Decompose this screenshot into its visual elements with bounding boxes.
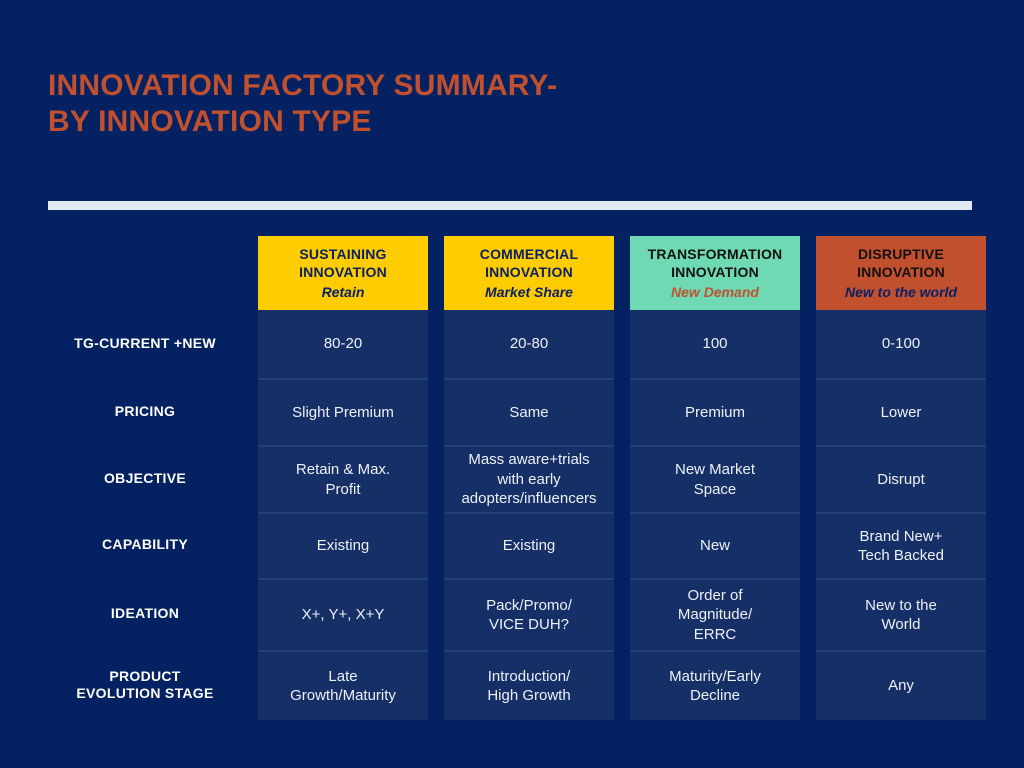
title-divider-rule bbox=[48, 201, 972, 210]
table-cell-text: Late Growth/Maturity bbox=[290, 667, 396, 706]
page-title-line-2: BY INNOVATION TYPE bbox=[48, 104, 748, 140]
table-cell-text: Slight Premium bbox=[292, 403, 394, 423]
column-header-1: SUSTAINING INNOVATIONRetain bbox=[258, 236, 428, 310]
table-cell-text: Any bbox=[888, 676, 914, 696]
table-cell-text: Existing bbox=[503, 536, 556, 556]
table-cell-text: Introduction/ High Growth bbox=[487, 667, 570, 706]
table-cell: Same bbox=[444, 378, 614, 445]
table-cell: Existing bbox=[444, 512, 614, 578]
table-cell: New to the World bbox=[816, 578, 986, 650]
column-header-2: COMMERCIAL INNOVATIONMarket Share bbox=[444, 236, 614, 310]
table-cell-text: Mass aware+trials with early adopters/in… bbox=[461, 450, 596, 509]
table-cell-text: Maturity/Early Decline bbox=[669, 667, 761, 706]
table-cell-text: New bbox=[700, 536, 730, 556]
table-cell-text: Existing bbox=[317, 536, 370, 556]
column-header-name: SUSTAINING INNOVATION bbox=[299, 245, 387, 282]
column-header-subtitle: New to the world bbox=[845, 283, 957, 301]
table-cell: Brand New+ Tech Backed bbox=[816, 512, 986, 578]
table-cell: Introduction/ High Growth bbox=[444, 650, 614, 720]
table-cell: New Market Space bbox=[630, 445, 800, 512]
table-cell: Slight Premium bbox=[258, 378, 428, 445]
table-cell: X+, Y+, X+Y bbox=[258, 578, 428, 650]
table-cell-text: Pack/Promo/ VICE DUH? bbox=[486, 596, 572, 635]
innovation-type-matrix: SUSTAINING INNOVATIONRetainCOMMERCIAL IN… bbox=[48, 236, 976, 720]
table-cell-text: X+, Y+, X+Y bbox=[302, 605, 385, 625]
table-cell: Order of Magnitude/ ERRC bbox=[630, 578, 800, 650]
row-label-5: IDEATION bbox=[48, 578, 242, 650]
column-header-subtitle: Market Share bbox=[485, 283, 573, 301]
table-cell-text: 100 bbox=[702, 334, 727, 354]
table-cell: Pack/Promo/ VICE DUH? bbox=[444, 578, 614, 650]
row-label-6: PRODUCT EVOLUTION STAGE bbox=[48, 650, 242, 720]
table-cell: New bbox=[630, 512, 800, 578]
row-label-4: CAPABILITY bbox=[48, 512, 242, 578]
table-cell: Disrupt bbox=[816, 445, 986, 512]
table-cell-text: Same bbox=[509, 403, 548, 423]
table-cell: Any bbox=[816, 650, 986, 720]
row-label-3: OBJECTIVE bbox=[48, 445, 242, 512]
table-cell-text: Premium bbox=[685, 403, 745, 423]
table-cell-text: Retain & Max. Profit bbox=[296, 460, 390, 499]
table-cell: 20-80 bbox=[444, 310, 614, 378]
table-cell: Lower bbox=[816, 378, 986, 445]
table-cell: Existing bbox=[258, 512, 428, 578]
column-header-name: TRANSFORMATION INNOVATION bbox=[648, 245, 783, 282]
table-cell: 80-20 bbox=[258, 310, 428, 378]
row-label-2: PRICING bbox=[48, 378, 242, 445]
table-cell: Premium bbox=[630, 378, 800, 445]
table-cell-text: New Market Space bbox=[675, 460, 755, 499]
row-label-1: TG-CURRENT +NEW bbox=[48, 310, 242, 378]
page-title-line-1: INNOVATION FACTORY SUMMARY- bbox=[48, 68, 748, 104]
column-header-4: DISRUPTIVE INNOVATIONNew to the world bbox=[816, 236, 986, 310]
table-cell-text: Order of Magnitude/ ERRC bbox=[678, 586, 752, 645]
matrix-corner-spacer bbox=[48, 236, 242, 310]
column-header-3: TRANSFORMATION INNOVATIONNew Demand bbox=[630, 236, 800, 310]
table-cell: 0-100 bbox=[816, 310, 986, 378]
table-cell: Late Growth/Maturity bbox=[258, 650, 428, 720]
table-cell: 100 bbox=[630, 310, 800, 378]
table-cell-text: 0-100 bbox=[882, 334, 920, 354]
column-header-name: COMMERCIAL INNOVATION bbox=[480, 245, 578, 282]
table-cell-text: 20-80 bbox=[510, 334, 548, 354]
column-header-subtitle: New Demand bbox=[671, 283, 759, 301]
table-cell: Maturity/Early Decline bbox=[630, 650, 800, 720]
table-cell: Mass aware+trials with early adopters/in… bbox=[444, 445, 614, 512]
table-cell-text: Lower bbox=[881, 403, 922, 423]
table-cell-text: 80-20 bbox=[324, 334, 362, 354]
column-header-subtitle: Retain bbox=[322, 283, 365, 301]
column-header-name: DISRUPTIVE INNOVATION bbox=[857, 245, 945, 282]
page-title: INNOVATION FACTORY SUMMARY- BY INNOVATIO… bbox=[48, 68, 748, 140]
table-cell-text: New to the World bbox=[865, 596, 937, 635]
table-cell-text: Brand New+ Tech Backed bbox=[858, 527, 944, 566]
table-cell: Retain & Max. Profit bbox=[258, 445, 428, 512]
table-cell-text: Disrupt bbox=[877, 470, 925, 490]
